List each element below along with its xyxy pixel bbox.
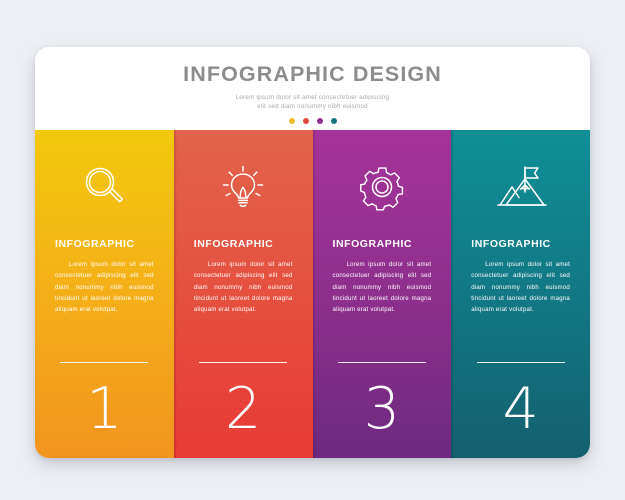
column-divider xyxy=(477,362,565,363)
column-divider xyxy=(199,362,287,363)
column-divider xyxy=(60,362,148,363)
column-body-text: Lorem ipsum dolor sit amet consectetuer … xyxy=(467,259,574,315)
dot-teal xyxy=(331,118,337,124)
column-number: 4 xyxy=(502,381,538,438)
column-title: INFOGRAPHIC xyxy=(51,238,135,250)
column-body-text: Lorem ipsum dolor sit amet consectetuer … xyxy=(51,259,158,315)
infographic-column-1[interactable]: INFOGRAPHIC Lorem ipsum dolor sit amet c… xyxy=(35,130,174,458)
infographic-column-2[interactable]: INFOGRAPHIC Lorem ipsum dolor sit amet c… xyxy=(174,130,313,458)
column-title: INFOGRAPHIC xyxy=(329,238,413,250)
infographic-card: INFOGRAPHIC DESIGN Lorem ipsum dolor sit… xyxy=(35,47,590,458)
column-title: INFOGRAPHIC xyxy=(467,238,551,250)
page-subtitle: Lorem ipsum dolor sit amet consectetuer … xyxy=(35,93,590,112)
page-subtitle-line-2: elit sed diam nonummy nibh euismod xyxy=(35,102,590,112)
column-body-text: Lorem ipsum dolor sit amet consectetuer … xyxy=(190,259,297,315)
color-dot-row xyxy=(35,118,590,124)
card-header: INFOGRAPHIC DESIGN Lorem ipsum dolor sit… xyxy=(35,47,590,130)
page-title: INFOGRAPHIC DESIGN xyxy=(35,64,590,86)
page-subtitle-line-1: Lorem ipsum dolor sit amet consectetuer … xyxy=(35,93,590,103)
column-number: 2 xyxy=(225,381,261,438)
infographic-columns: INFOGRAPHIC Lorem ipsum dolor sit amet c… xyxy=(35,130,590,458)
dot-yellow xyxy=(289,118,295,124)
infographic-canvas: INFOGRAPHIC DESIGN Lorem ipsum dolor sit… xyxy=(0,0,625,500)
column-title: INFOGRAPHIC xyxy=(190,238,274,250)
magnifier-icon xyxy=(79,158,129,216)
dot-red xyxy=(303,118,309,124)
mountain-flag-icon xyxy=(494,158,548,216)
infographic-column-4[interactable]: INFOGRAPHIC Lorem ipsum dolor sit amet c… xyxy=(451,130,590,458)
column-divider xyxy=(338,362,426,363)
dot-purple xyxy=(317,118,323,124)
infographic-column-3[interactable]: INFOGRAPHIC Lorem ipsum dolor sit amet c… xyxy=(313,130,452,458)
column-number: 3 xyxy=(364,381,400,438)
gear-icon xyxy=(357,158,407,216)
column-body-text: Lorem ipsum dolor sit amet consectetuer … xyxy=(329,259,436,315)
column-number: 1 xyxy=(86,381,122,438)
lightbulb-icon xyxy=(218,158,268,216)
